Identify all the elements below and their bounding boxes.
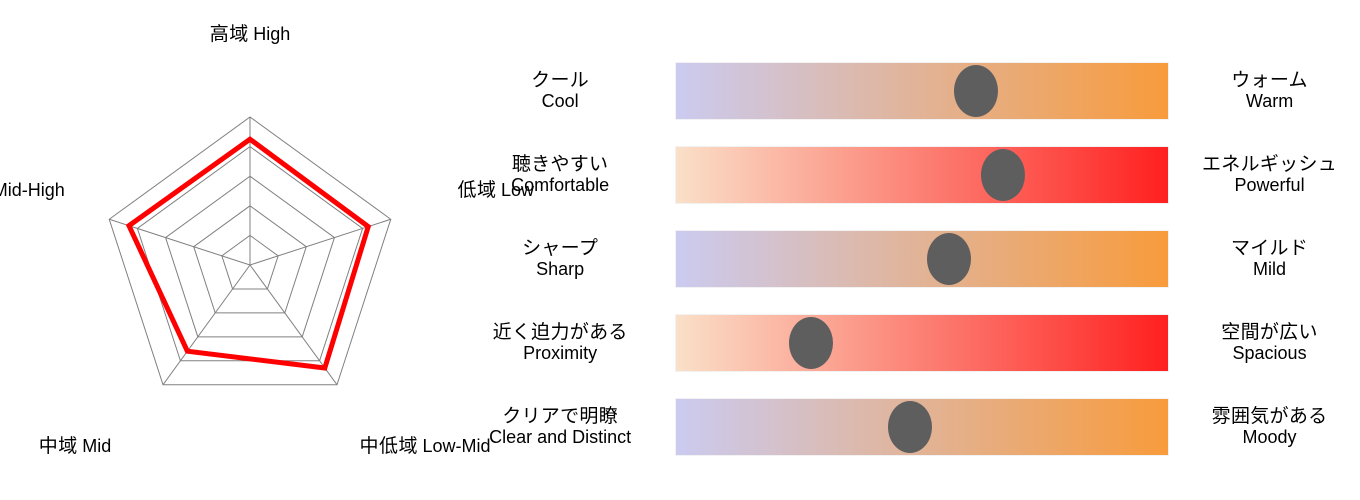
- radar-chart: 高域 High 低域 Low 中低域 Low-Mid 中域 Mid 中高域 Mi…: [0, 0, 500, 500]
- slider-row-cool-warm: クール Cool ウォーム Warm: [455, 60, 1360, 122]
- slider-left-label-jp: 聴きやすい: [455, 155, 665, 176]
- radar-grid: [109, 117, 391, 385]
- slider-thumb[interactable]: [789, 317, 833, 369]
- slider-left-label-en: Comfortable: [455, 176, 665, 196]
- slider-track[interactable]: [675, 314, 1169, 372]
- slider-right-label-en: Mild: [1179, 260, 1360, 280]
- slider-right-label-en: Moody: [1179, 428, 1360, 448]
- slider-right-label-jp: エネルギッシュ: [1179, 155, 1360, 176]
- slider-thumb[interactable]: [888, 401, 932, 453]
- attribute-slider-group: クール Cool ウォーム Warm 聴きやすい Comfortable エネル…: [455, 0, 1360, 500]
- slider-right-label: マイルド Mild: [1179, 239, 1360, 280]
- tonal-profile-figure: 高域 High 低域 Low 中低域 Low-Mid 中域 Mid 中高域 Mi…: [0, 0, 1360, 500]
- slider-track[interactable]: [675, 398, 1169, 456]
- slider-right-label-en: Powerful: [1179, 176, 1360, 196]
- slider-left-label-en: Proximity: [455, 344, 665, 364]
- slider-thumb[interactable]: [981, 149, 1025, 201]
- slider-left-label-en: Clear and Distinct: [455, 428, 665, 448]
- slider-right-label-jp: 空間が広い: [1179, 323, 1360, 344]
- slider-left-label: クール Cool: [455, 71, 665, 112]
- axis-label-jp: 高域: [210, 24, 249, 45]
- slider-row-sharp-mild: シャープ Sharp マイルド Mild: [455, 228, 1360, 290]
- radar-chart-canvas: [0, 0, 500, 500]
- slider-right-label-jp: 雰囲気がある: [1179, 407, 1360, 428]
- slider-row-comfortable-powerful: 聴きやすい Comfortable エネルギッシュ Powerful: [455, 144, 1360, 206]
- slider-left-label: クリアで明瞭 Clear and Distinct: [455, 407, 665, 448]
- slider-thumb[interactable]: [927, 233, 971, 285]
- slider-right-label: エネルギッシュ Powerful: [1179, 155, 1360, 196]
- slider-right-label: 雰囲気がある Moody: [1179, 407, 1360, 448]
- slider-left-label-jp: クリアで明瞭: [455, 407, 665, 428]
- slider-right-label-en: Warm: [1179, 92, 1360, 112]
- slider-row-proximity-spacious: 近く迫力がある Proximity 空間が広い Spacious: [455, 312, 1360, 374]
- radar-axis-label-mid: 中域 Mid: [5, 437, 145, 458]
- radar-axis-label-high: 高域 High: [180, 25, 320, 46]
- radar-axis-label-mid-high: 中高域 Mid-High: [0, 181, 67, 202]
- axis-label-en: Mid: [82, 436, 111, 456]
- slider-left-label: 聴きやすい Comfortable: [455, 155, 665, 196]
- axis-label-en: High: [253, 24, 290, 44]
- slider-row-clear-moody: クリアで明瞭 Clear and Distinct 雰囲気がある Moody: [455, 396, 1360, 458]
- slider-track[interactable]: [675, 230, 1169, 288]
- slider-left-label: シャープ Sharp: [455, 239, 665, 280]
- slider-left-label: 近く迫力がある Proximity: [455, 323, 665, 364]
- slider-right-label-jp: マイルド: [1179, 239, 1360, 260]
- slider-left-label-jp: クール: [455, 71, 665, 92]
- slider-track[interactable]: [675, 146, 1169, 204]
- slider-left-label-jp: 近く迫力がある: [455, 323, 665, 344]
- axis-label-en: Mid-High: [0, 180, 65, 200]
- slider-right-label: 空間が広い Spacious: [1179, 323, 1360, 364]
- slider-right-label-jp: ウォーム: [1179, 71, 1360, 92]
- slider-left-label-en: Sharp: [455, 260, 665, 280]
- radar-series-polygon: [129, 139, 368, 368]
- axis-label-jp: 中域: [39, 436, 78, 457]
- slider-left-label-en: Cool: [455, 92, 665, 112]
- slider-thumb[interactable]: [954, 65, 998, 117]
- slider-right-label: ウォーム Warm: [1179, 71, 1360, 112]
- axis-label-jp: 中低域: [359, 436, 418, 457]
- slider-right-label-en: Spacious: [1179, 344, 1360, 364]
- slider-track[interactable]: [675, 62, 1169, 120]
- slider-left-label-jp: シャープ: [455, 239, 665, 260]
